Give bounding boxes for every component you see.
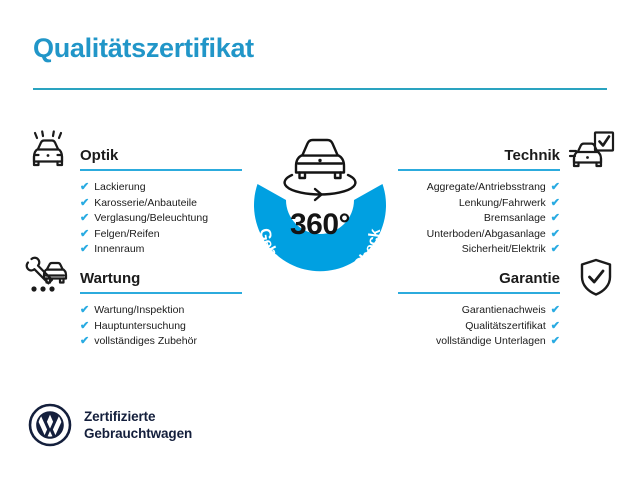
check-icon: ✔ xyxy=(551,244,560,255)
car-rotate-360-icon xyxy=(285,140,356,200)
section-garantie-items: Garantienachweis ✔ Qualitätszertifikat ✔… xyxy=(398,303,560,350)
list-item: Unterboden/Abgasanlage ✔ xyxy=(398,227,560,243)
check-icon: ✔ xyxy=(551,336,560,347)
page-title: Qualitätszertifikat xyxy=(33,33,254,64)
section-garantie: Garantie Garantienachweis ✔ Qualitätszer… xyxy=(398,269,560,350)
vw-certified-text: Zertifizierte Gebrauchtwagen xyxy=(84,408,192,442)
check-icon: ✔ xyxy=(80,321,89,332)
car-wrench-icon xyxy=(24,253,72,297)
check-icon: ✔ xyxy=(551,321,560,332)
check-icon: ✔ xyxy=(551,198,560,209)
list-item: ✔ Hauptuntersuchung xyxy=(80,319,242,335)
list-item-label: Karosserie/Anbauteile xyxy=(94,196,197,212)
section-technik-items: Aggregate/Antriebsstrang ✔ Lenkung/Fahrw… xyxy=(398,180,560,258)
badge-360-gebrauchtwagen-check: Gebrauchtwagen-Check 360° xyxy=(222,122,418,312)
list-item-label: Wartung/Inspektion xyxy=(94,303,184,319)
list-item: ✔ Verglasung/Beleuchtung xyxy=(80,211,242,227)
vw-certified-line1: Zertifizierte xyxy=(84,408,192,425)
vw-logo-icon xyxy=(28,403,72,447)
list-item: ✔ Wartung/Inspektion xyxy=(80,303,242,319)
check-icon: ✔ xyxy=(551,229,560,240)
section-optik-header: Optik xyxy=(80,146,242,172)
list-item-label: Garantienachweis xyxy=(462,303,546,319)
list-item-label: Felgen/Reifen xyxy=(94,227,159,243)
list-item-label: Innenraum xyxy=(94,242,144,258)
list-item: ✔ Karosserie/Anbauteile xyxy=(80,196,242,212)
section-technik-header: Technik xyxy=(398,146,560,172)
check-icon: ✔ xyxy=(80,336,89,347)
section-garantie-divider xyxy=(398,292,560,294)
list-item: Aggregate/Antriebsstrang ✔ xyxy=(398,180,560,196)
section-optik: Optik ✔ Lackierung ✔ Karosserie/Anbautei… xyxy=(80,146,242,258)
section-technik-title: Technik xyxy=(398,146,560,166)
list-item: ✔ vollständiges Zubehör xyxy=(80,334,242,350)
car-shine-icon xyxy=(24,130,72,174)
list-item: Garantienachweis ✔ xyxy=(398,303,560,319)
list-item-label: vollständige Unterlagen xyxy=(436,334,546,350)
vw-certified-line2: Gebrauchtwagen xyxy=(84,425,192,442)
section-garantie-title: Garantie xyxy=(398,269,560,289)
list-item: Sicherheit/Elektrik ✔ xyxy=(398,242,560,258)
list-item: ✔ Innenraum xyxy=(80,242,242,258)
list-item-label: Aggregate/Antriebsstrang xyxy=(427,180,546,196)
section-wartung-divider xyxy=(80,292,242,294)
list-item: Bremsanlage ✔ xyxy=(398,211,560,227)
section-wartung: Wartung ✔ Wartung/Inspektion ✔ Hauptunte… xyxy=(80,269,242,350)
section-wartung-title: Wartung xyxy=(80,269,242,289)
section-garantie-header: Garantie xyxy=(398,269,560,295)
check-icon: ✔ xyxy=(551,305,560,316)
section-optik-title: Optik xyxy=(80,146,242,166)
section-optik-items: ✔ Lackierung ✔ Karosserie/Anbauteile ✔ V… xyxy=(80,180,242,258)
car-checkbox-icon xyxy=(568,130,616,174)
list-item: Lenkung/Fahrwerk ✔ xyxy=(398,196,560,212)
check-icon: ✔ xyxy=(551,213,560,224)
check-icon: ✔ xyxy=(80,244,89,255)
list-item-label: vollständiges Zubehör xyxy=(94,334,197,350)
certificate-page: Qualitätszertifikat Optik ✔ Lackierung xyxy=(0,0,640,480)
list-item-label: Unterboden/Abgasanlage xyxy=(427,227,546,243)
list-item-label: Sicherheit/Elektrik xyxy=(462,242,546,258)
list-item-label: Hauptuntersuchung xyxy=(94,319,186,335)
section-wartung-items: ✔ Wartung/Inspektion ✔ Hauptuntersuchung… xyxy=(80,303,242,350)
check-icon: ✔ xyxy=(80,229,89,240)
list-item: Qualitätszertifikat ✔ xyxy=(398,319,560,335)
vw-certified-lockup: Zertifizierte Gebrauchtwagen xyxy=(28,403,192,447)
section-technik-divider xyxy=(398,169,560,171)
list-item-label: Lenkung/Fahrwerk xyxy=(459,196,546,212)
check-icon: ✔ xyxy=(80,305,89,316)
section-technik: Technik Aggregate/Antriebsstrang ✔ Lenku… xyxy=(398,146,560,258)
check-icon: ✔ xyxy=(80,213,89,224)
check-icon: ✔ xyxy=(80,182,89,193)
list-item-label: Lackierung xyxy=(94,180,145,196)
list-item: vollständige Unterlagen ✔ xyxy=(398,334,560,350)
list-item-label: Bremsanlage xyxy=(484,211,546,227)
section-optik-divider xyxy=(80,169,242,171)
list-item: ✔ Lackierung xyxy=(80,180,242,196)
section-wartung-header: Wartung xyxy=(80,269,242,295)
check-icon: ✔ xyxy=(80,198,89,209)
shield-check-icon xyxy=(572,256,620,300)
list-item-label: Qualitätszertifikat xyxy=(465,319,546,335)
header-divider xyxy=(33,88,607,90)
list-item-label: Verglasung/Beleuchtung xyxy=(94,211,208,227)
check-icon: ✔ xyxy=(551,182,560,193)
list-item: ✔ Felgen/Reifen xyxy=(80,227,242,243)
